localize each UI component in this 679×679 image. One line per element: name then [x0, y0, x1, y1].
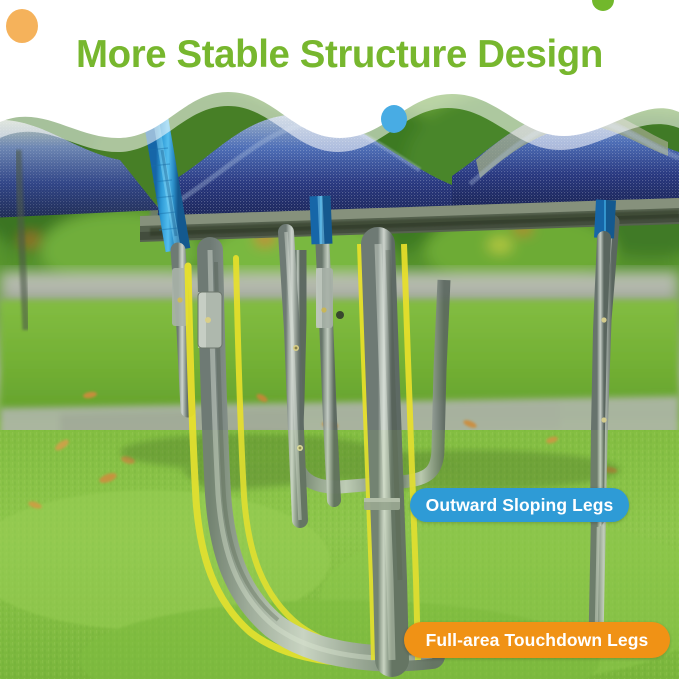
feature-badge-full-area-touchdown-legs: Full-area Touchdown Legs — [404, 622, 670, 658]
promo-image-canvas: More Stable Structure Design Outward Slo… — [0, 0, 679, 679]
blue-dot-decoration — [381, 105, 407, 133]
product-photo — [0, 0, 679, 679]
page-title: More Stable Structure Design — [5, 33, 674, 77]
feature-badge-outward-sloping-legs: Outward Sloping Legs — [410, 488, 629, 522]
